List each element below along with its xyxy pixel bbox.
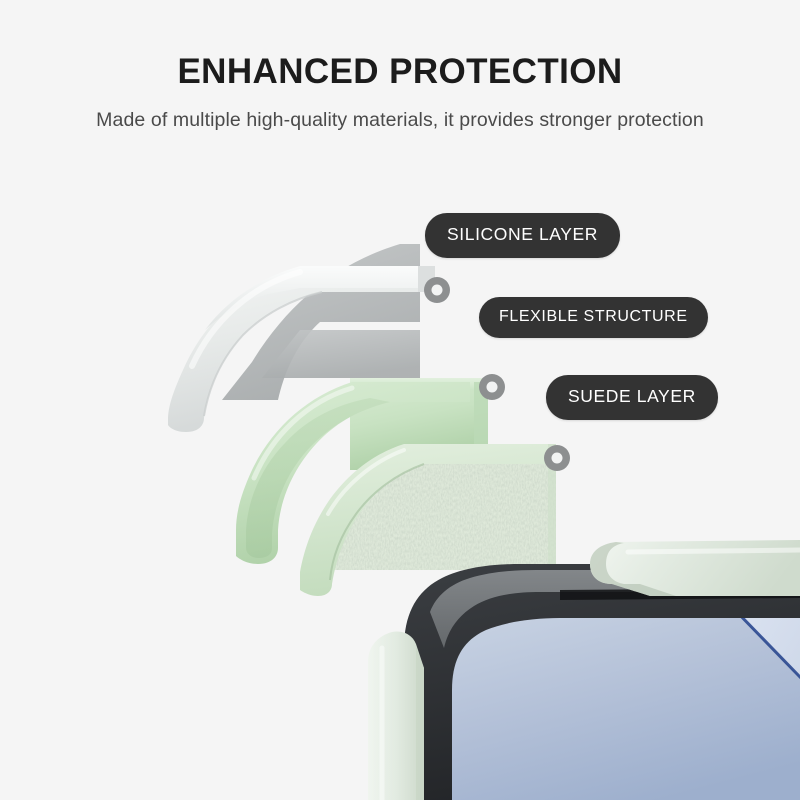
connector-ring-flexible bbox=[479, 374, 505, 400]
phone-case-rail-left-edge bbox=[416, 646, 424, 800]
callout-silicone-layer[interactable]: SILICONE LAYER bbox=[425, 213, 620, 258]
phone-screen bbox=[452, 618, 800, 800]
connector-ring-silicone bbox=[424, 277, 450, 303]
phone-assembly bbox=[368, 540, 800, 800]
callout-suede-layer[interactable]: SUEDE LAYER bbox=[546, 375, 718, 420]
phone-case-rail-left bbox=[368, 632, 424, 800]
callout-flexible-structure[interactable]: FLEXIBLE STRUCTURE bbox=[479, 297, 708, 338]
connector-ring-suede bbox=[544, 445, 570, 471]
phone-case-rail-top-highlight bbox=[628, 550, 800, 552]
product-infographic: ENHANCED PROTECTION Made of multiple hig… bbox=[0, 0, 800, 800]
